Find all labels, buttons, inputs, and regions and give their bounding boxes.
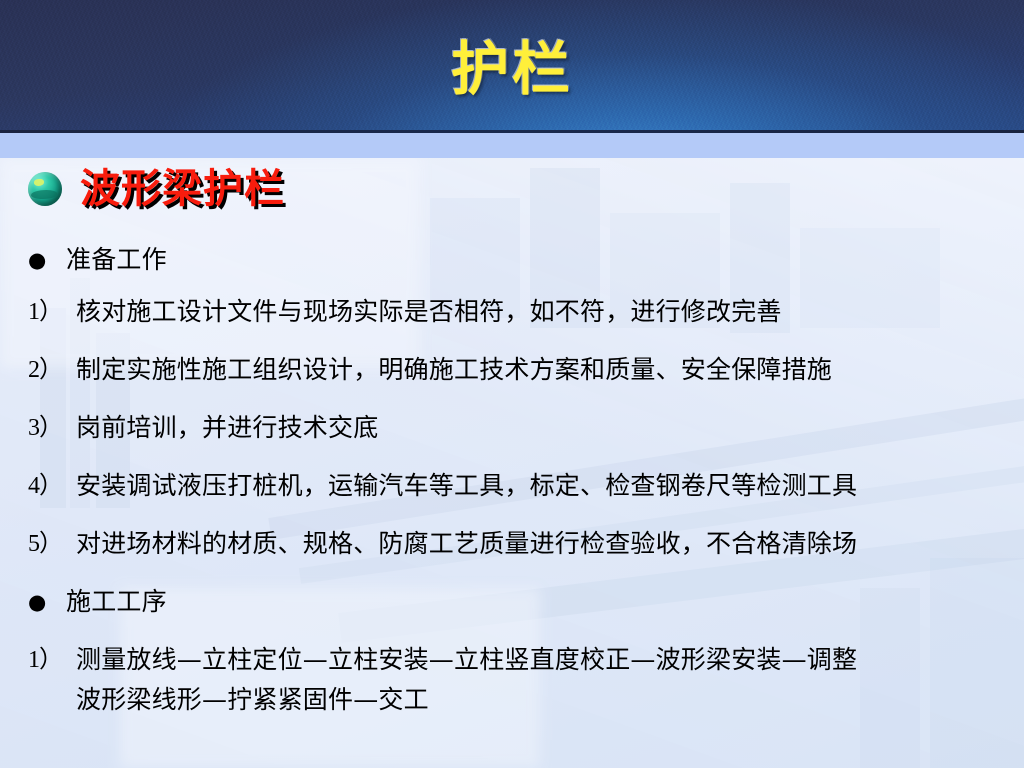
list-marker: 2） [28, 354, 76, 386]
list-item: ● 施工工序 [28, 586, 1010, 618]
list-item-text-block: 测量放线—立柱定位—立柱安装—立柱竖直度校正—波形梁安装—调整 波形梁线形—拧紧… [76, 644, 1010, 716]
globe-icon [28, 172, 62, 206]
list-item-text: 制定实施性施工组织设计，明确施工技术方案和质量、安全保障措施 [76, 354, 1010, 386]
list-item: 3） 岗前培训，并进行技术交底 [28, 412, 1010, 444]
list-item: 1） 测量放线—立柱定位—立柱安装—立柱竖直度校正—波形梁安装—调整 波形梁线形… [28, 644, 1010, 716]
list-marker: 1） [28, 644, 76, 676]
list-item: 5） 对进场材料的材质、规格、防腐工艺质量进行检查验收，不合格清除场 [28, 528, 1010, 560]
slide-body: 波形梁护栏 ● 准备工作 1） 核对施工设计文件与现场实际是否相符，如不符，进行… [0, 158, 1024, 768]
list-item-text: 岗前培训，并进行技术交底 [76, 412, 1010, 444]
list-item-text: 核对施工设计文件与现场实际是否相符，如不符，进行修改完善 [76, 296, 1010, 328]
list-marker: 4） [28, 470, 76, 502]
list-item: 2） 制定实施性施工组织设计，明确施工技术方案和质量、安全保障措施 [28, 354, 1010, 386]
list-item-text: 对进场材料的材质、规格、防腐工艺质量进行检查验收，不合格清除场 [76, 528, 1010, 560]
section-title: 波形梁护栏 [80, 166, 285, 212]
slide-title: 护栏 [0, 36, 1024, 102]
slide-content: 波形梁护栏 ● 准备工作 1） 核对施工设计文件与现场实际是否相符，如不符，进行… [0, 158, 1024, 768]
list-item-text-continuation: 波形梁线形—拧紧紧固件—交工 [76, 684, 1010, 716]
section-heading: 波形梁护栏 [28, 166, 285, 212]
list-marker: 3） [28, 412, 76, 444]
list-item: 1） 核对施工设计文件与现场实际是否相符，如不符，进行修改完善 [28, 296, 1010, 328]
bullet-icon: ● [28, 586, 66, 618]
accent-band [0, 133, 1024, 158]
list-item: 4） 安装调试液压打桩机，运输汽车等工具，标定、检查钢卷尺等检测工具 [28, 470, 1010, 502]
list-item-text: 安装调试液压打桩机，运输汽车等工具，标定、检查钢卷尺等检测工具 [76, 470, 1010, 502]
list-item-text: 测量放线—立柱定位—立柱安装—立柱竖直度校正—波形梁安装—调整 [76, 645, 857, 674]
slide: 护栏 波形梁护栏 [0, 0, 1024, 768]
group-heading-label: 施工工序 [66, 586, 1010, 618]
list-marker: 5） [28, 528, 76, 560]
group-heading-label: 准备工作 [66, 244, 1010, 276]
bullet-icon: ● [28, 244, 66, 276]
list-item: ● 准备工作 [28, 244, 1010, 276]
list-marker: 1） [28, 296, 76, 328]
